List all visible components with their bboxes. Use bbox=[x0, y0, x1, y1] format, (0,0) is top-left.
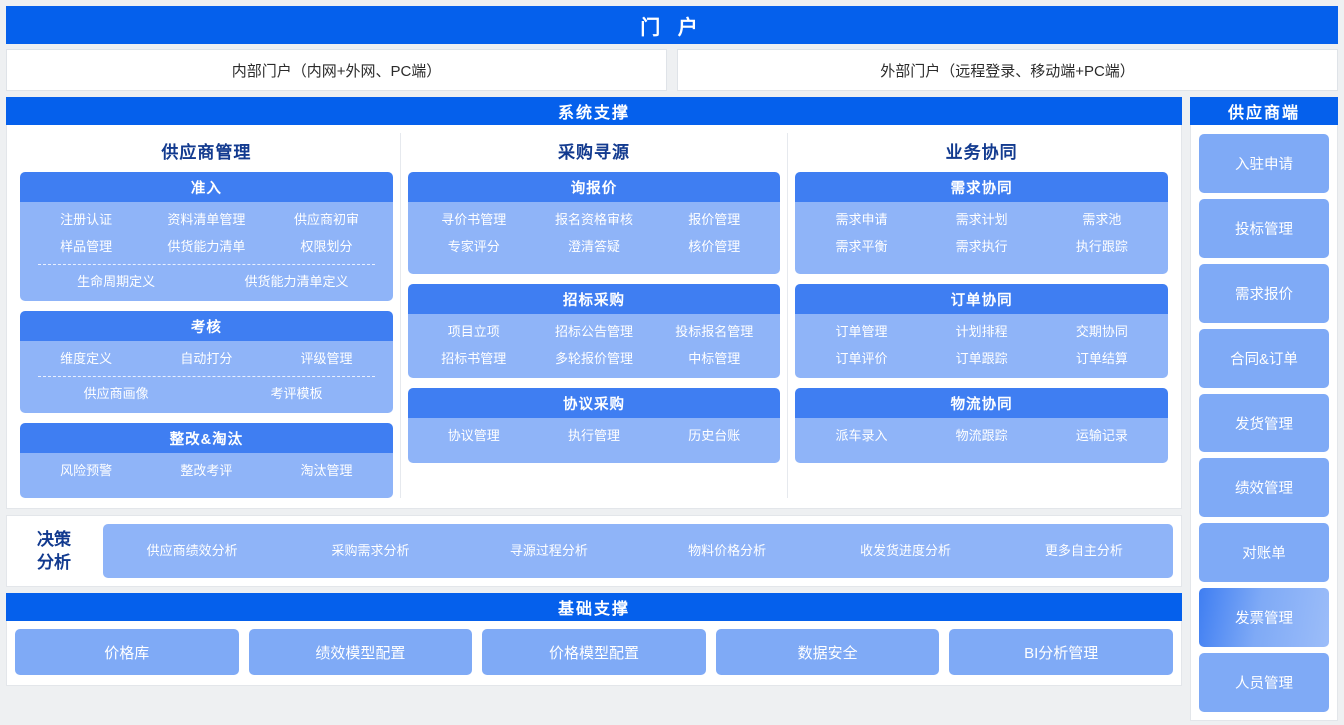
leaf-item[interactable]: 项目立项 bbox=[414, 323, 534, 341]
leaf-item[interactable]: 招标书管理 bbox=[414, 350, 534, 368]
leaf-grid: 协议管理 执行管理 历史台账 bbox=[414, 427, 775, 445]
card-order-collaboration[interactable]: 订单协同 订单管理 计划排程 交期协同 订单评价 订单跟踪 订单结算 bbox=[795, 284, 1168, 378]
leaf-item[interactable]: 需求平衡 bbox=[801, 238, 921, 256]
card-body: 寻价书管理 报名资格审核 报价管理 专家评分 澄清答疑 核价管理 bbox=[408, 202, 781, 274]
card-access[interactable]: 准入 注册认证 资料清单管理 供应商初审 样品管理 供货能力清单 权限划分 bbox=[20, 172, 393, 301]
decision-item[interactable]: 更多自主分析 bbox=[995, 542, 1173, 560]
card-assessment[interactable]: 考核 维度定义 自动打分 评级管理 供应商画像 考评模板 bbox=[20, 311, 393, 413]
leaf-item[interactable]: 投标报名管理 bbox=[654, 323, 774, 341]
sidebar-item-statement[interactable]: 对账单 bbox=[1199, 523, 1329, 582]
leaf-item[interactable]: 执行跟踪 bbox=[1042, 238, 1162, 256]
leaf-item[interactable]: 历史台账 bbox=[654, 427, 774, 445]
card-title: 整改&淘汰 bbox=[20, 423, 393, 453]
leaf-item[interactable]: 订单结算 bbox=[1042, 350, 1162, 368]
decision-item[interactable]: 采购需求分析 bbox=[281, 542, 459, 560]
decision-label-line1: 决策 bbox=[15, 528, 93, 551]
sidebar-item-onboarding-application[interactable]: 入驻申请 bbox=[1199, 134, 1329, 193]
leaf-item[interactable]: 计划排程 bbox=[922, 323, 1042, 341]
leaf-item[interactable]: 生命周期定义 bbox=[26, 273, 206, 291]
supplier-side-panel: 供应商端 入驻申请 投标管理 需求报价 合同&订单 发货管理 绩效管理 对账单 … bbox=[1190, 97, 1338, 721]
leaf-item[interactable]: 需求申请 bbox=[801, 211, 921, 229]
architecture-diagram: 门 户 内部门户（内网+外网、PC端） 外部门户（远程登录、移动端+PC端） 系… bbox=[0, 0, 1344, 725]
sidebar-item-shipment-management[interactable]: 发货管理 bbox=[1199, 394, 1329, 453]
card-body: 订单管理 计划排程 交期协同 订单评价 订单跟踪 订单结算 bbox=[795, 314, 1168, 378]
sidebar-item-invoice-management[interactable]: 发票管理 bbox=[1199, 588, 1329, 647]
card-title: 需求协同 bbox=[795, 172, 1168, 202]
card-demand-collaboration[interactable]: 需求协同 需求申请 需求计划 需求池 需求平衡 需求执行 执行跟踪 bbox=[795, 172, 1168, 274]
supplier-side-bar: 供应商端 bbox=[1190, 97, 1338, 125]
decision-analysis-label: 决策 分析 bbox=[15, 528, 93, 574]
portal-box-internal[interactable]: 内部门户（内网+外网、PC端） bbox=[6, 49, 667, 91]
leaf-item[interactable]: 考评模板 bbox=[206, 385, 386, 403]
dashed-divider bbox=[38, 376, 375, 377]
system-support-body: 供应商管理 准入 注册认证 资料清单管理 供应商初审 样品管理 供货能力清单 权… bbox=[6, 125, 1182, 509]
leaf-item[interactable]: 需求计划 bbox=[922, 211, 1042, 229]
card-body: 需求申请 需求计划 需求池 需求平衡 需求执行 执行跟踪 bbox=[795, 202, 1168, 274]
leaf-item[interactable]: 中标管理 bbox=[654, 350, 774, 368]
leaf-grid: 注册认证 资料清单管理 供应商初审 样品管理 供货能力清单 权限划分 bbox=[26, 211, 387, 256]
leaf-item[interactable]: 多轮报价管理 bbox=[534, 350, 654, 368]
sidebar-item-bid-management[interactable]: 投标管理 bbox=[1199, 199, 1329, 258]
sidebar-item-contract-order[interactable]: 合同&订单 bbox=[1199, 329, 1329, 388]
column-title: 供应商管理 bbox=[20, 133, 393, 172]
basic-support-section: 基础支撑 价格库 绩效模型配置 价格模型配置 数据安全 BI分析管理 bbox=[6, 593, 1182, 686]
leaf-grid: 项目立项 招标公告管理 投标报名管理 招标书管理 多轮报价管理 中标管理 bbox=[414, 323, 775, 368]
leaf-item[interactable]: 注册认证 bbox=[26, 211, 146, 229]
decision-analysis-section: 决策 分析 供应商绩效分析 采购需求分析 寻源过程分析 物料价格分析 收发货进度… bbox=[6, 515, 1182, 587]
leaf-item[interactable]: 样品管理 bbox=[26, 238, 146, 256]
decision-analysis-items: 供应商绩效分析 采购需求分析 寻源过程分析 物料价格分析 收发货进度分析 更多自… bbox=[103, 524, 1173, 578]
leaf-item[interactable]: 澄清答疑 bbox=[534, 238, 654, 256]
card-rectify-eliminate[interactable]: 整改&淘汰 风险预警 整改考评 淘汰管理 bbox=[20, 423, 393, 498]
card-title: 物流协同 bbox=[795, 388, 1168, 418]
leaf-item[interactable]: 权限划分 bbox=[266, 238, 386, 256]
card-bidding-procurement[interactable]: 招标采购 项目立项 招标公告管理 投标报名管理 招标书管理 多轮报价管理 中标管… bbox=[408, 284, 781, 378]
sidebar-item-demand-quotation[interactable]: 需求报价 bbox=[1199, 264, 1329, 323]
leaf-item[interactable]: 核价管理 bbox=[654, 238, 774, 256]
basic-support-body: 价格库 绩效模型配置 价格模型配置 数据安全 BI分析管理 bbox=[6, 621, 1182, 686]
card-logistics-collaboration[interactable]: 物流协同 派车录入 物流跟踪 运输记录 bbox=[795, 388, 1168, 463]
card-body: 维度定义 自动打分 评级管理 供应商画像 考评模板 bbox=[20, 341, 393, 413]
leaf-item[interactable]: 执行管理 bbox=[534, 427, 654, 445]
leaf-item[interactable]: 供货能力清单定义 bbox=[206, 273, 386, 291]
card-title: 询报价 bbox=[408, 172, 781, 202]
leaf-item[interactable]: 报名资格审核 bbox=[534, 211, 654, 229]
leaf-item[interactable]: 整改考评 bbox=[146, 462, 266, 480]
middle-region: 系统支撑 供应商管理 准入 注册认证 资料清单管理 供应商初审 样品管理 bbox=[6, 97, 1338, 721]
leaf-item[interactable]: 需求池 bbox=[1042, 211, 1162, 229]
leaf-item[interactable]: 专家评分 bbox=[414, 238, 534, 256]
leaf-grid: 需求申请 需求计划 需求池 需求平衡 需求执行 执行跟踪 bbox=[801, 211, 1162, 256]
portal-box-row: 内部门户（内网+外网、PC端） 外部门户（远程登录、移动端+PC端） bbox=[6, 49, 1338, 91]
basic-item-price-model-config[interactable]: 价格模型配置 bbox=[482, 629, 706, 675]
basic-item-price-library[interactable]: 价格库 bbox=[15, 629, 239, 675]
leaf-item[interactable]: 交期协同 bbox=[1042, 323, 1162, 341]
leaf-grid: 维度定义 自动打分 评级管理 bbox=[26, 350, 387, 368]
sidebar-item-personnel-management[interactable]: 人员管理 bbox=[1199, 653, 1329, 712]
leaf-grid: 风险预警 整改考评 淘汰管理 bbox=[26, 462, 387, 480]
leaf-item[interactable]: 协议管理 bbox=[414, 427, 534, 445]
leaf-grid: 派车录入 物流跟踪 运输记录 bbox=[801, 427, 1162, 445]
leaf-item[interactable]: 报价管理 bbox=[654, 211, 774, 229]
decision-item[interactable]: 物料价格分析 bbox=[638, 542, 816, 560]
card-title: 招标采购 bbox=[408, 284, 781, 314]
leaf-item[interactable]: 供应商初审 bbox=[266, 211, 386, 229]
leaf-item[interactable]: 派车录入 bbox=[801, 427, 921, 445]
card-title: 准入 bbox=[20, 172, 393, 202]
basic-item-bi-analysis-management[interactable]: BI分析管理 bbox=[949, 629, 1173, 675]
basic-item-performance-model-config[interactable]: 绩效模型配置 bbox=[249, 629, 473, 675]
card-body: 协议管理 执行管理 历史台账 bbox=[408, 418, 781, 463]
card-body: 派车录入 物流跟踪 运输记录 bbox=[795, 418, 1168, 463]
card-body: 风险预警 整改考评 淘汰管理 bbox=[20, 453, 393, 498]
leaf-grid: 生命周期定义 供货能力清单定义 bbox=[26, 273, 387, 291]
leaf-grid: 订单管理 计划排程 交期协同 订单评价 订单跟踪 订单结算 bbox=[801, 323, 1162, 368]
portal-box-external[interactable]: 外部门户（远程登录、移动端+PC端） bbox=[677, 49, 1338, 91]
column-procurement-sourcing: 采购寻源 询报价 寻价书管理 报名资格审核 报价管理 专家评分 澄清答疑 核价管… bbox=[400, 133, 788, 498]
card-title: 订单协同 bbox=[795, 284, 1168, 314]
leaf-item[interactable]: 物流跟踪 bbox=[922, 427, 1042, 445]
card-title: 协议采购 bbox=[408, 388, 781, 418]
card-agreement-procurement[interactable]: 协议采购 协议管理 执行管理 历史台账 bbox=[408, 388, 781, 463]
leaf-item[interactable]: 订单管理 bbox=[801, 323, 921, 341]
main-column: 系统支撑 供应商管理 准入 注册认证 资料清单管理 供应商初审 样品管理 bbox=[6, 97, 1182, 721]
leaf-item[interactable]: 供应商画像 bbox=[26, 385, 206, 403]
decision-item[interactable]: 寻源过程分析 bbox=[460, 542, 638, 560]
dashed-divider bbox=[38, 264, 375, 265]
column-business-collaboration: 业务协同 需求协同 需求申请 需求计划 需求池 需求平衡 需求执行 执行跟踪 bbox=[787, 133, 1175, 498]
card-title: 考核 bbox=[20, 311, 393, 341]
portal-title-bar: 门 户 bbox=[6, 6, 1338, 44]
leaf-item[interactable]: 维度定义 bbox=[26, 350, 146, 368]
leaf-item[interactable]: 订单评价 bbox=[801, 350, 921, 368]
leaf-item[interactable]: 供货能力清单 bbox=[146, 238, 266, 256]
basic-item-data-security[interactable]: 数据安全 bbox=[716, 629, 940, 675]
leaf-item[interactable]: 寻价书管理 bbox=[414, 211, 534, 229]
leaf-item[interactable]: 运输记录 bbox=[1042, 427, 1162, 445]
basic-support-bar: 基础支撑 bbox=[6, 593, 1182, 621]
sidebar-item-performance-management[interactable]: 绩效管理 bbox=[1199, 458, 1329, 517]
decision-label-line2: 分析 bbox=[15, 551, 93, 574]
leaf-grid: 供应商画像 考评模板 bbox=[26, 385, 387, 403]
decision-item[interactable]: 收发货进度分析 bbox=[816, 542, 994, 560]
leaf-item[interactable]: 订单跟踪 bbox=[922, 350, 1042, 368]
supplier-side-body: 入驻申请 投标管理 需求报价 合同&订单 发货管理 绩效管理 对账单 发票管理 … bbox=[1190, 125, 1338, 721]
column-supplier-management: 供应商管理 准入 注册认证 资料清单管理 供应商初审 样品管理 供货能力清单 权… bbox=[13, 133, 400, 498]
system-support-bar: 系统支撑 bbox=[6, 97, 1182, 125]
leaf-item[interactable]: 招标公告管理 bbox=[534, 323, 654, 341]
leaf-item[interactable]: 风险预警 bbox=[26, 462, 146, 480]
leaf-item[interactable]: 需求执行 bbox=[922, 238, 1042, 256]
leaf-item[interactable]: 评级管理 bbox=[266, 350, 386, 368]
card-inquiry-quotation[interactable]: 询报价 寻价书管理 报名资格审核 报价管理 专家评分 澄清答疑 核价管理 bbox=[408, 172, 781, 274]
leaf-item[interactable]: 自动打分 bbox=[146, 350, 266, 368]
leaf-grid: 寻价书管理 报名资格审核 报价管理 专家评分 澄清答疑 核价管理 bbox=[414, 211, 775, 256]
column-title: 采购寻源 bbox=[408, 133, 781, 172]
decision-item[interactable]: 供应商绩效分析 bbox=[103, 542, 281, 560]
leaf-item[interactable]: 淘汰管理 bbox=[266, 462, 386, 480]
card-body: 注册认证 资料清单管理 供应商初审 样品管理 供货能力清单 权限划分 生命周期定… bbox=[20, 202, 393, 301]
card-body: 项目立项 招标公告管理 投标报名管理 招标书管理 多轮报价管理 中标管理 bbox=[408, 314, 781, 378]
column-title: 业务协同 bbox=[795, 133, 1168, 172]
leaf-item[interactable]: 资料清单管理 bbox=[146, 211, 266, 229]
